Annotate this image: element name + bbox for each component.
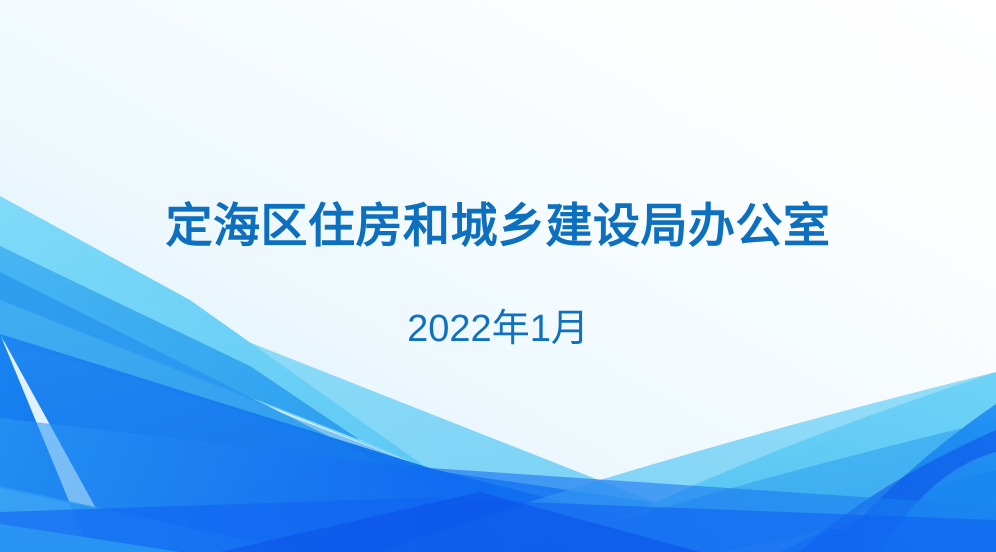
page-title: 定海区住房和城乡建设局办公室	[0, 198, 996, 254]
title-slide: 定海区住房和城乡建设局办公室 2022年1月	[0, 0, 996, 552]
slide-subtitle-date: 2022年1月	[0, 305, 996, 353]
slide-text-layer: 定海区住房和城乡建设局办公室 2022年1月	[0, 0, 996, 552]
